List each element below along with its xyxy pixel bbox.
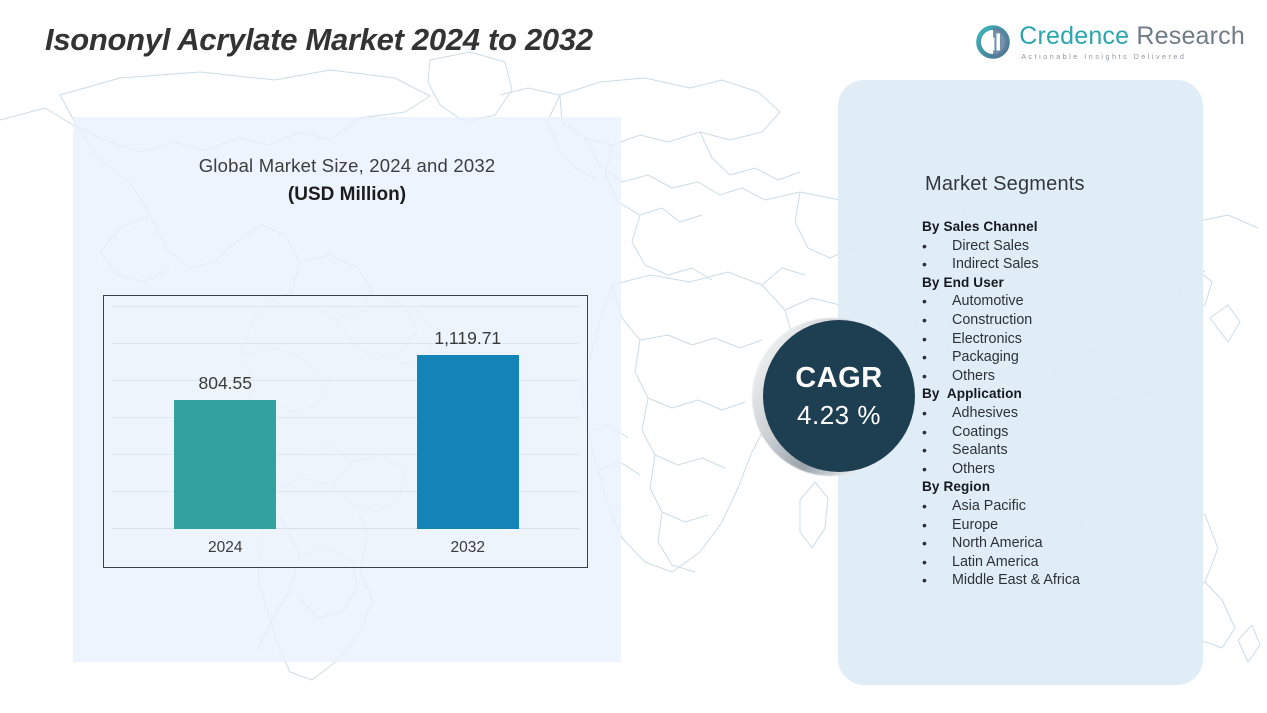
- segment-item: •Others: [922, 460, 1197, 479]
- segment-item-label: Sealants: [952, 441, 1008, 460]
- segment-item: •Adhesives: [922, 404, 1197, 423]
- segment-item-label: Others: [952, 460, 995, 479]
- segment-item: •Europe: [922, 516, 1197, 535]
- bullet-icon: •: [922, 348, 952, 367]
- segment-item: •Construction: [922, 311, 1197, 330]
- segment-item-label: Indirect Sales: [952, 255, 1039, 274]
- segment-item: •North America: [922, 534, 1197, 553]
- segment-item: •Automotive: [922, 292, 1197, 311]
- segment-item-label: Automotive: [952, 292, 1024, 311]
- bar-2024: 804.552024: [174, 400, 276, 529]
- bullet-icon: •: [922, 255, 952, 274]
- bullet-icon: •: [922, 460, 952, 479]
- bar-category-label: 2024: [208, 539, 242, 557]
- segment-group-heading: By End User: [922, 274, 1197, 293]
- segment-item: •Packaging: [922, 348, 1197, 367]
- segment-group-heading: By Application: [922, 385, 1197, 404]
- cagr-label: CAGR: [795, 364, 882, 393]
- segment-item: •Latin America: [922, 553, 1197, 572]
- segment-group-heading: By Region: [922, 478, 1197, 497]
- bullet-icon: •: [922, 237, 952, 256]
- segment-item: •Electronics: [922, 330, 1197, 349]
- segment-item: •Others: [922, 367, 1197, 386]
- segments-title: Market Segments: [925, 173, 1085, 196]
- brand-logo: Credence Research Actionable Insights De…: [976, 24, 1245, 60]
- segment-item-label: Packaging: [952, 348, 1019, 367]
- logo-wordmark: Credence Research: [1019, 24, 1245, 49]
- segment-group-heading: By Sales Channel: [922, 218, 1197, 237]
- bar-category-label: 2032: [451, 539, 485, 557]
- bar-rect: [417, 355, 519, 529]
- segment-item: •Middle East & Africa: [922, 571, 1197, 590]
- segment-item-label: Adhesives: [952, 404, 1018, 423]
- bullet-icon: •: [922, 423, 952, 442]
- bullet-icon: •: [922, 330, 952, 349]
- segments-list: By Sales Channel•Direct Sales•Indirect S…: [922, 218, 1197, 590]
- segment-item: •Indirect Sales: [922, 255, 1197, 274]
- segment-item-label: Latin America: [952, 553, 1039, 572]
- bullet-icon: •: [922, 516, 952, 535]
- logo-tagline: Actionable Insights Delivered: [1021, 53, 1245, 60]
- bullet-icon: •: [922, 497, 952, 516]
- bullet-icon: •: [922, 404, 952, 423]
- segment-item-label: Direct Sales: [952, 237, 1029, 256]
- bullet-icon: •: [922, 534, 952, 553]
- segment-item: •Direct Sales: [922, 237, 1197, 256]
- segment-item-label: Asia Pacific: [952, 497, 1026, 516]
- segment-item: •Asia Pacific: [922, 497, 1197, 516]
- segment-item-label: North America: [952, 534, 1043, 553]
- bullet-icon: •: [922, 571, 952, 590]
- segment-item-label: Middle East & Africa: [952, 571, 1080, 590]
- cagr-badge: CAGR 4.23 %: [752, 318, 917, 478]
- page-title: Isononyl Acrylate Market 2024 to 2032: [45, 22, 593, 58]
- logo-name-credence: Credence: [1019, 22, 1129, 50]
- segment-item-label: Others: [952, 367, 995, 386]
- chart-plot-area: 804.5520241,119.712032: [104, 296, 587, 567]
- bar-chart-circle-icon: [976, 25, 1010, 59]
- bullet-icon: •: [922, 292, 952, 311]
- segment-item: •Sealants: [922, 441, 1197, 460]
- segment-item-label: Electronics: [952, 330, 1022, 349]
- bullet-icon: •: [922, 311, 952, 330]
- bar-rect: [174, 400, 276, 529]
- bar-value-label: 1,119.71: [434, 328, 501, 349]
- cagr-circle: CAGR 4.23 %: [763, 320, 915, 472]
- cagr-value: 4.23 %: [797, 402, 881, 428]
- segment-item: •Coatings: [922, 423, 1197, 442]
- bullet-icon: •: [922, 553, 952, 572]
- bar-2032: 1,119.712032: [417, 355, 519, 529]
- logo-name-research: Research: [1136, 22, 1245, 50]
- segment-item-label: Construction: [952, 311, 1032, 330]
- bar-value-label: 804.55: [198, 373, 252, 394]
- bullet-icon: •: [922, 367, 952, 386]
- segment-item-label: Coatings: [952, 423, 1008, 442]
- segment-item-label: Europe: [952, 516, 998, 535]
- bar-chart: 804.5520241,119.712032: [103, 295, 588, 568]
- bullet-icon: •: [922, 441, 952, 460]
